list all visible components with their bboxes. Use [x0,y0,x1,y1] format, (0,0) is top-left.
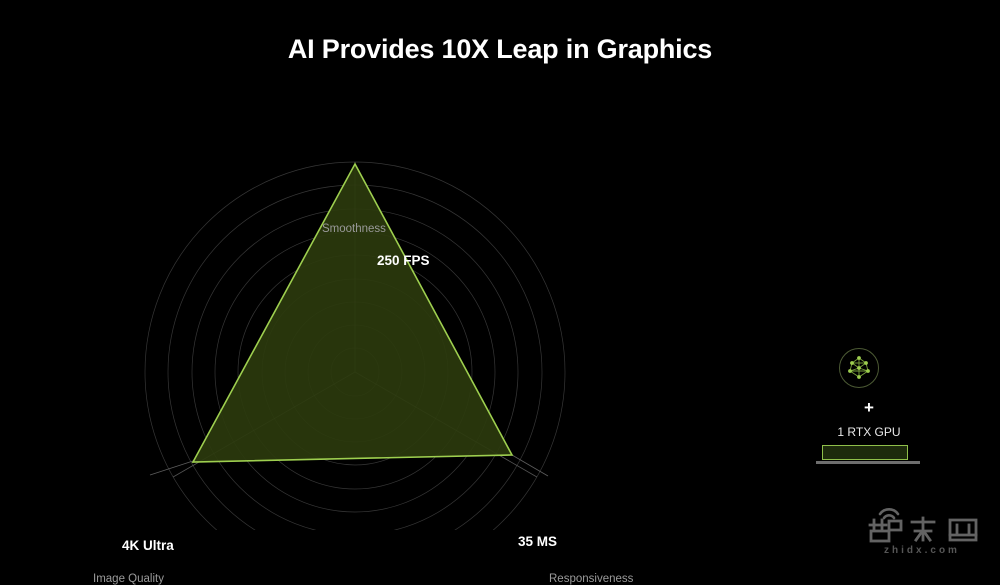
axis-label-responsiveness: Responsiveness [549,573,633,585]
radar-chart-svg [0,90,720,530]
value-label-ms: 35 MS [518,534,557,549]
gpu-count-label: 1 RTX GPU [790,425,948,439]
watermark-logo: zhidx.com [858,505,986,563]
radar-data-polygon [193,164,512,462]
slide-root: AI Provides 10X Leap in Graphics [0,0,1000,576]
gpu-panel: + 1 RTX GPU [790,340,950,480]
gpu-usage-bar [822,445,908,460]
axis-label-image-quality: Image Quality [93,573,164,585]
radar-chart: Smoothness Responsiveness Image Quality … [0,90,720,530]
axis-label-smoothness: Smoothness [322,223,386,235]
gpu-bar-baseline [816,461,920,464]
zhidx-logo-icon [858,505,986,545]
watermark-domain-text: zhidx.com [858,545,986,556]
neural-network-icon [839,348,879,388]
value-label-fps: 250 FPS [377,253,430,268]
page-title: AI Provides 10X Leap in Graphics [0,33,1000,65]
plus-icon: + [790,399,948,416]
value-label-image-quality-value: 4K Ultra [122,538,174,553]
